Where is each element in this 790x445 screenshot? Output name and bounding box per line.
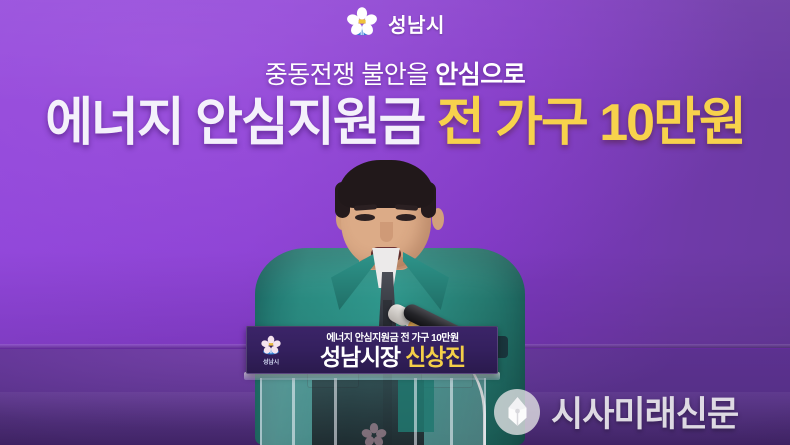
podium-strut-midleft [334,378,337,445]
nameplate-person-name: 신상진 [405,344,465,370]
seongnam-flower-logo-icon [345,6,379,40]
podium: 성남시 에너지 안심지원금 전 가구 10만원 성남시장 신상진 [238,326,506,445]
press-briefing-screenshot: 성남시 중동전쟁 불안을 안심으로 에너지 안심지원금 전 가구 10만원 [0,0,790,445]
nameplate-subtitle: 에너지 안심지원금 전 가구 10만원 [326,329,458,344]
podium-strut-left [292,378,295,445]
banner-city-label: 성남시 [388,9,445,38]
podium-nameplate: 성남시 에너지 안심지원금 전 가구 10만원 성남시장 신상진 [246,326,498,374]
subheadline-strong-text: 안심으로 [435,61,525,89]
nameplate-role: 성남시장 [320,344,405,370]
eye-right [396,214,416,221]
nameplate-logo: 성남시 [254,335,288,366]
watermark-text: 시사미래신문 [551,386,738,437]
headline-gold-text: 전 가구 10만원 [437,94,745,152]
banner-subheadline: 중동전쟁 불안을 안심으로 [0,55,790,91]
banner-headline: 에너지 안심지원금 전 가구 10만원 [0,94,790,152]
banner-logo-row: 성남시 [0,6,790,40]
podium-faint-logo-icon [360,422,388,445]
nameplate-text-block: 에너지 안심지원금 전 가구 10만원 성남시장 신상진 [295,329,490,370]
podium-strut-midright [414,378,417,445]
pen-nib-icon [494,389,540,435]
broadcaster-watermark: 시사미래신문 [494,386,738,437]
headline-white-text: 에너지 안심지원금 [45,94,437,152]
nose [380,222,393,242]
eye-left [355,214,375,221]
podium-strut-right [450,378,453,445]
hair [338,160,434,208]
subheadline-light-text: 중동전쟁 불안을 [265,61,435,89]
nameplate-logo-caption: 성남시 [263,357,279,366]
nameplate-title-row: 성남시장 신상진 [320,345,465,370]
